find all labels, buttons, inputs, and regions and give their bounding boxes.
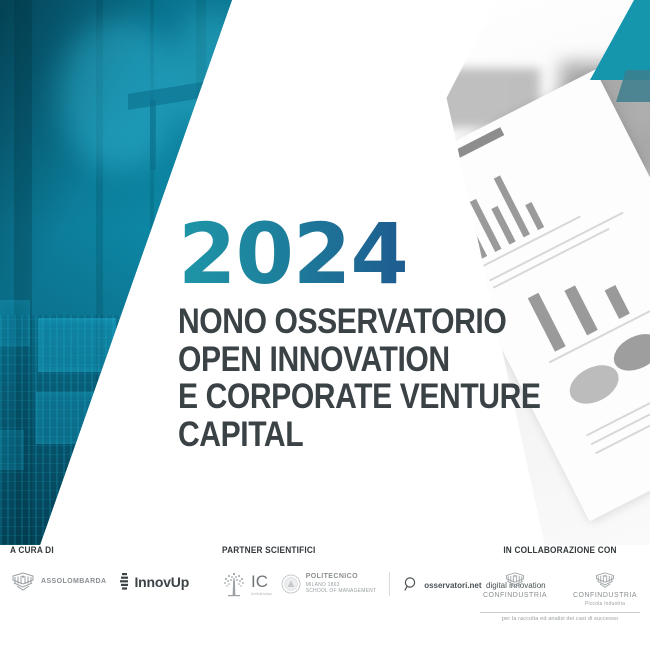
politecnico-wordmark: POLITECNICO MILANO 1863 SCHOOL OF MANAGE… [306, 573, 377, 594]
title-line-2: OPEN INNOVATION [178, 341, 488, 379]
unicattolica-tree-icon [222, 571, 246, 597]
osservatori-label: osservatori.net [424, 581, 481, 590]
politecnico-sublabel-2: SCHOOL OF MANAGEMENT [306, 588, 377, 594]
chart-bar [605, 285, 630, 319]
monitor-screen [0, 300, 30, 346]
footer-logos-right: CONFINDUSTRIA CONFINDUSTRIA Piccola Indu… [480, 571, 640, 607]
page-title-year: 2024 [178, 215, 538, 295]
footer-label-a-cura-di: A CURA DI [10, 545, 175, 555]
footer-logos-left: ASSOLOMBARDA InnovUp [10, 571, 189, 593]
ic-label: IC [251, 572, 268, 591]
footer-divider [389, 572, 390, 596]
headline-block: 2024 NONO OSSERVATORIO OPEN INNOVATION E… [178, 215, 538, 454]
confindustria-piccola-label: CONFINDUSTRIA [573, 592, 637, 599]
logo-unicattolica[interactable]: IC UniCattolica [222, 571, 272, 597]
innovup-label: InnovUp [134, 574, 189, 590]
confindustria-label: CONFINDUSTRIA [483, 592, 547, 599]
politecnico-seal-icon [281, 574, 301, 594]
politecnico-label: POLITECNICO [306, 573, 358, 580]
confindustria-eagle-icon [504, 571, 526, 590]
logo-confindustria-piccola-industria[interactable]: CONFINDUSTRIA Piccola Industria [573, 571, 637, 607]
monitor-screen [0, 430, 24, 470]
logo-confindustria[interactable]: CONFINDUSTRIA [483, 571, 547, 607]
footer-note: per la raccolta ed analisi dei casi di s… [480, 612, 640, 622]
magnifier-icon [403, 576, 419, 592]
confindustria-eagle-icon [594, 571, 616, 590]
clipboard-clip [408, 168, 430, 189]
title-line-1: NONO OSSERVATORIO [178, 303, 488, 341]
logo-assolombarda[interactable]: ASSOLOMBARDA [10, 571, 106, 593]
footer-credits: A CURA DI ASSOLOMBARDA [0, 545, 650, 650]
ic-sublabel: UniCattolica [251, 592, 272, 596]
chart-bar [564, 285, 597, 335]
window-glow [170, 10, 250, 130]
desk-leg [150, 100, 156, 170]
unicattolica-wordmark: IC UniCattolica [251, 573, 272, 596]
logo-politecnico[interactable]: POLITECNICO MILANO 1863 SCHOOL OF MANAGE… [281, 573, 377, 594]
footer-col-a-cura-di: A CURA DI ASSOLOMBARDA [10, 545, 189, 593]
title-line-3: E CORPORATE VENTURE [178, 378, 488, 416]
title-line-4: CAPITAL [178, 416, 488, 454]
monitor-screen [38, 318, 116, 372]
assolombarda-eagle-icon [10, 571, 36, 593]
innovup-bars-icon [120, 573, 129, 591]
monitor-screen [36, 392, 108, 444]
logo-innovup[interactable]: InnovUp [120, 573, 189, 591]
poster-cover: 2024 NONO OSSERVATORIO OPEN INNOVATION E… [0, 0, 650, 650]
assolombarda-label: ASSOLOMBARDA [41, 578, 106, 587]
footer-col-in-collaborazione-con: IN COLLABORAZIONE CON CONFINDUSTRIA [480, 545, 640, 622]
text-line [595, 392, 650, 455]
footer-label-partner-scientifici: PARTNER SCIENTIFICI [222, 545, 520, 555]
page-title: NONO OSSERVATORIO OPEN INNOVATION E CORP… [178, 303, 488, 454]
confindustria-piccola-sublabel: Piccola Industria [585, 601, 625, 607]
footer-label-in-collaborazione-con: IN COLLABORAZIONE CON [486, 545, 633, 555]
